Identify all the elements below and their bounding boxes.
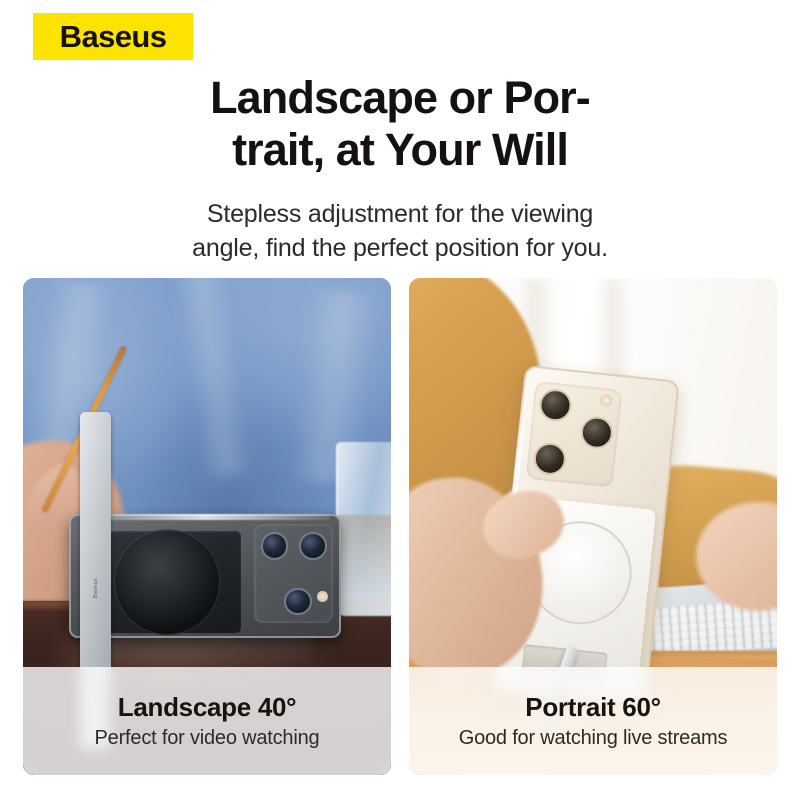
panel-caption-portrait: Portrait 60° Good for watching live stre… [409, 667, 777, 775]
feature-panel-portrait: Baseus Portrait 60° Good for watching li… [409, 278, 777, 775]
product-feature-slide: Baseus Landscape or Por- trait, at Your … [0, 0, 800, 800]
headline-line-1: Landscape or Por- [0, 72, 800, 124]
caption-title: Portrait 60° [525, 693, 660, 722]
camera-lens [538, 388, 573, 423]
page-subtitle: Stepless adjustment for the viewing angl… [0, 197, 800, 265]
caption-subtitle: Perfect for video watching [95, 727, 320, 749]
camera-flash [600, 394, 613, 407]
brand-logo-text: Baseus [60, 21, 167, 52]
feature-panel-row: Baseus Landscape 40° Perfect for video w… [23, 278, 777, 775]
feature-panel-landscape: Baseus Landscape 40° Perfect for video w… [23, 278, 391, 775]
headline-line-2: trait, at Your Will [0, 124, 800, 176]
magsafe-ring [114, 529, 220, 635]
shirt-fold [171, 278, 255, 478]
water-level [338, 515, 391, 616]
kickstand-brand-text: Baseus [93, 578, 99, 598]
camera-lens [261, 532, 289, 560]
water-glass [336, 442, 391, 616]
caption-title: Landscape 40° [118, 693, 296, 722]
page-title: Landscape or Por- trait, at Your Will [0, 72, 800, 176]
camera-lens [284, 588, 312, 616]
camera-lens [579, 416, 614, 451]
subtitle-line-1: Stepless adjustment for the viewing [0, 197, 800, 231]
camera-module [526, 381, 622, 488]
camera-lens [299, 532, 327, 560]
caption-subtitle: Good for watching live streams [459, 727, 728, 749]
phone-highlight [80, 514, 331, 520]
panel-caption-landscape: Landscape 40° Perfect for video watching [23, 667, 391, 775]
brand-logo-badge: Baseus [33, 13, 193, 60]
subtitle-line-2: angle, find the perfect position for you… [0, 231, 800, 265]
magnetic-stand-pad [94, 531, 241, 633]
camera-flash [317, 591, 327, 601]
camera-module [254, 524, 333, 623]
camera-lens [532, 442, 567, 477]
